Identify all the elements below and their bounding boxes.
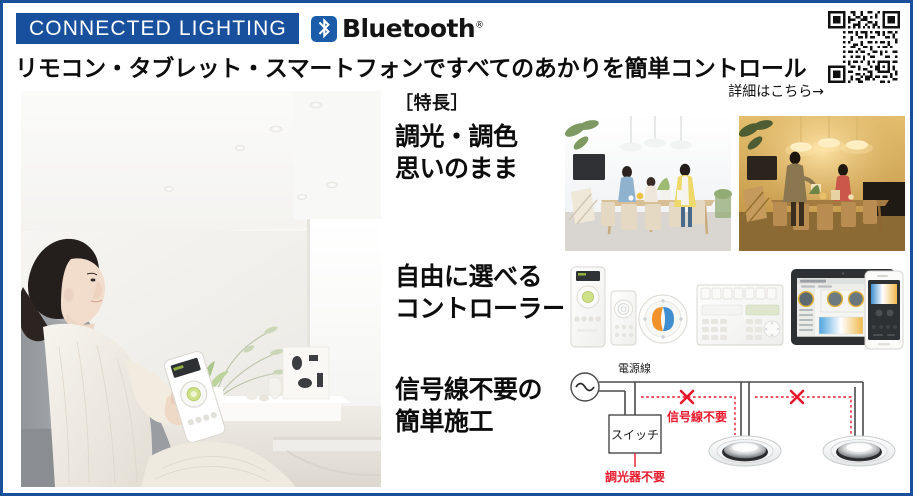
bluetooth-logo-lockup: Bluetooth® xyxy=(311,14,483,43)
no-signal-line-label: 信号線不要 xyxy=(667,409,727,424)
wiring-diagram: 電源線 スイッチ 調光器不要 xyxy=(563,359,908,487)
feature-kicker: ［特長］ xyxy=(395,89,560,115)
room-scene-photos xyxy=(565,116,905,251)
controller-smartphone xyxy=(859,267,909,353)
feature-line-2: コントローラー xyxy=(395,293,567,325)
feature-line-1: 調光・調色 xyxy=(395,121,518,153)
qr-code[interactable] xyxy=(828,11,900,83)
feature-list: ［特長］ 調光・調色 思いのまま 自由に選べる コントローラー 信号線不要の 簡… xyxy=(395,89,560,489)
feature-item-dimming-toning: 調光・調色 思いのまま xyxy=(395,121,518,184)
controller-wall-panel xyxy=(697,285,783,345)
feature-line-2: 思いのまま xyxy=(395,153,518,185)
switch-box: スイッチ xyxy=(609,415,661,453)
registered-trademark-mark: ® xyxy=(475,21,483,31)
photo-daylight-scene xyxy=(565,116,732,251)
downlight-fixture-2 xyxy=(823,436,895,466)
power-line-label: 電源線 xyxy=(618,361,651,375)
hero-photo-woman-with-remote xyxy=(21,91,381,487)
bluetooth-word-text: Bluetooth xyxy=(342,14,475,43)
bluetooth-icon xyxy=(311,16,337,42)
header: CONNECTED LIGHTING Bluetooth® リモコン・タブレット… xyxy=(3,3,910,89)
ac-power-source-icon xyxy=(571,373,599,401)
switch-label: スイッチ xyxy=(611,428,659,442)
bluetooth-wordmark: Bluetooth® xyxy=(342,16,483,41)
downlight-fixture-1 xyxy=(709,436,781,466)
feature-item-no-signal-wiring: 信号線不要の 簡単施工 xyxy=(395,374,542,437)
qr-caption: 詳細はこちら→ xyxy=(728,81,824,101)
feature-item-controllers: 自由に選べる コントローラー xyxy=(395,261,567,324)
controller-round-dial xyxy=(639,295,687,343)
connected-lighting-banner: CONNECTED LIGHTING xyxy=(16,13,299,44)
no-dimmer-label: 調光器不要 xyxy=(605,469,665,484)
feature-line-2: 簡単施工 xyxy=(395,406,542,438)
feature-line-1: 信号線不要の xyxy=(395,374,542,406)
controller-lineup xyxy=(563,261,908,353)
controller-small-remote xyxy=(611,291,636,345)
banner-label: CONNECTED LIGHTING xyxy=(29,17,287,41)
connected-lighting-card: CONNECTED LIGHTING Bluetooth® リモコン・タブレット… xyxy=(0,0,913,496)
controller-large-remote xyxy=(571,267,605,347)
header-subtitle: リモコン・タブレット・スマートフォンですべてのあかりを簡単コントロール xyxy=(15,49,806,83)
photo-warm-evening-scene xyxy=(737,116,905,251)
feature-line-1: 自由に選べる xyxy=(395,261,567,293)
